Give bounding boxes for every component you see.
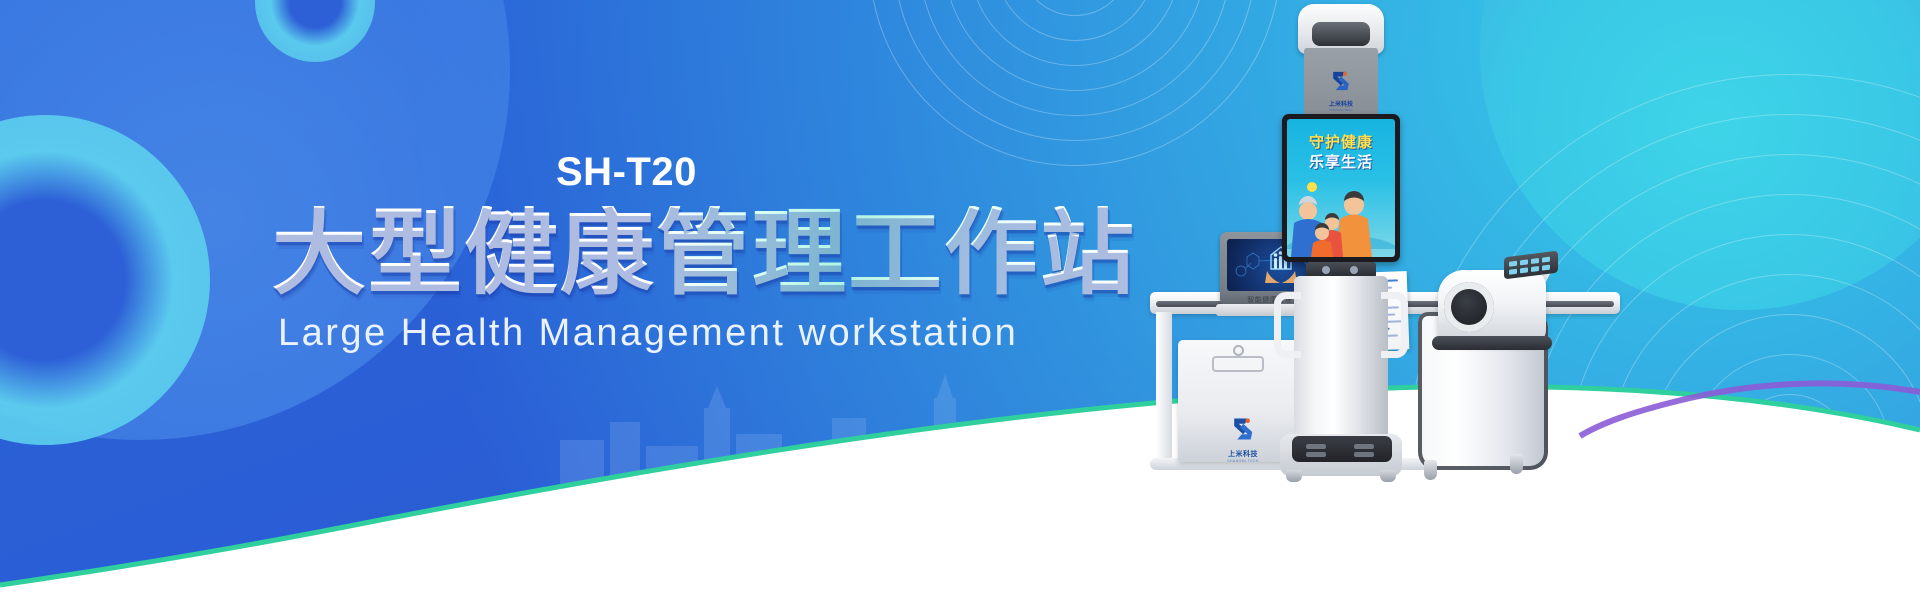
- page-title: 大型健康管理工作站: [272, 206, 1136, 300]
- cabinet-keyhole-icon: [1233, 345, 1244, 356]
- health-kiosk-totem: 上米科技 SHANGMI TECH 守护健康 乐享生活: [1282, 4, 1400, 490]
- kiosk-display[interactable]: 守护健康 乐享生活: [1282, 114, 1400, 262]
- cabinet-brand-name-cn: 上米科技: [1227, 449, 1259, 459]
- kiosk-weight-scale-plate[interactable]: [1292, 436, 1392, 462]
- kiosk-ad-line-1: 守护健康: [1287, 131, 1395, 152]
- banner-copy: SH-T20 大型健康管理工作站 Large Health Management…: [0, 0, 1050, 600]
- cabinet-brand-logo: 上米科技 SHANGMI TECH: [1227, 414, 1259, 463]
- caster-wheel: [1424, 460, 1437, 480]
- family-illustration: [1287, 171, 1395, 257]
- cabinet-handle-slot: [1212, 356, 1264, 372]
- desk-leg-left: [1156, 312, 1172, 462]
- kiosk-brand-name-cn: 上米科技: [1318, 99, 1364, 108]
- kiosk-ad-content: 守护健康 乐享生活: [1287, 119, 1395, 257]
- brand-mark-icon: [1328, 68, 1354, 94]
- bpm-control-panel[interactable]: [1504, 251, 1558, 280]
- page-subtitle: Large Health Management workstation: [278, 312, 1018, 355]
- kiosk-upper-column: 上米科技 SHANGMI TECH: [1304, 48, 1378, 122]
- cabinet-brand-name-en: SHANGMI TECH: [1227, 459, 1259, 463]
- model-code: SH-T20: [556, 150, 697, 195]
- bpm-arm-cuff: [1444, 282, 1494, 332]
- kiosk-brand-logo: 上米科技 SHANGMI TECH: [1318, 68, 1364, 112]
- kiosk-handrail-left: [1274, 292, 1301, 358]
- brand-mark-icon: [1228, 414, 1258, 444]
- product-hero-banner: SH-T20 大型健康管理工作站 Large Health Management…: [0, 0, 1920, 600]
- product-photo: 上米科技 SHANGMI TECH: [1020, 0, 1920, 600]
- kiosk-foot: [1286, 470, 1302, 482]
- blood-pressure-monitor: [1420, 248, 1560, 352]
- bpm-base: [1432, 336, 1552, 350]
- kiosk-lower-column: [1294, 276, 1388, 444]
- kiosk-ad-line-2: 乐享生活: [1287, 151, 1395, 172]
- kiosk-foot: [1380, 470, 1396, 482]
- kiosk-height-sensor: [1298, 4, 1384, 54]
- kiosk-handrail-right: [1381, 292, 1408, 358]
- kiosk-brand-name-en: SHANGMI TECH: [1318, 108, 1364, 112]
- caster-wheel: [1510, 454, 1523, 474]
